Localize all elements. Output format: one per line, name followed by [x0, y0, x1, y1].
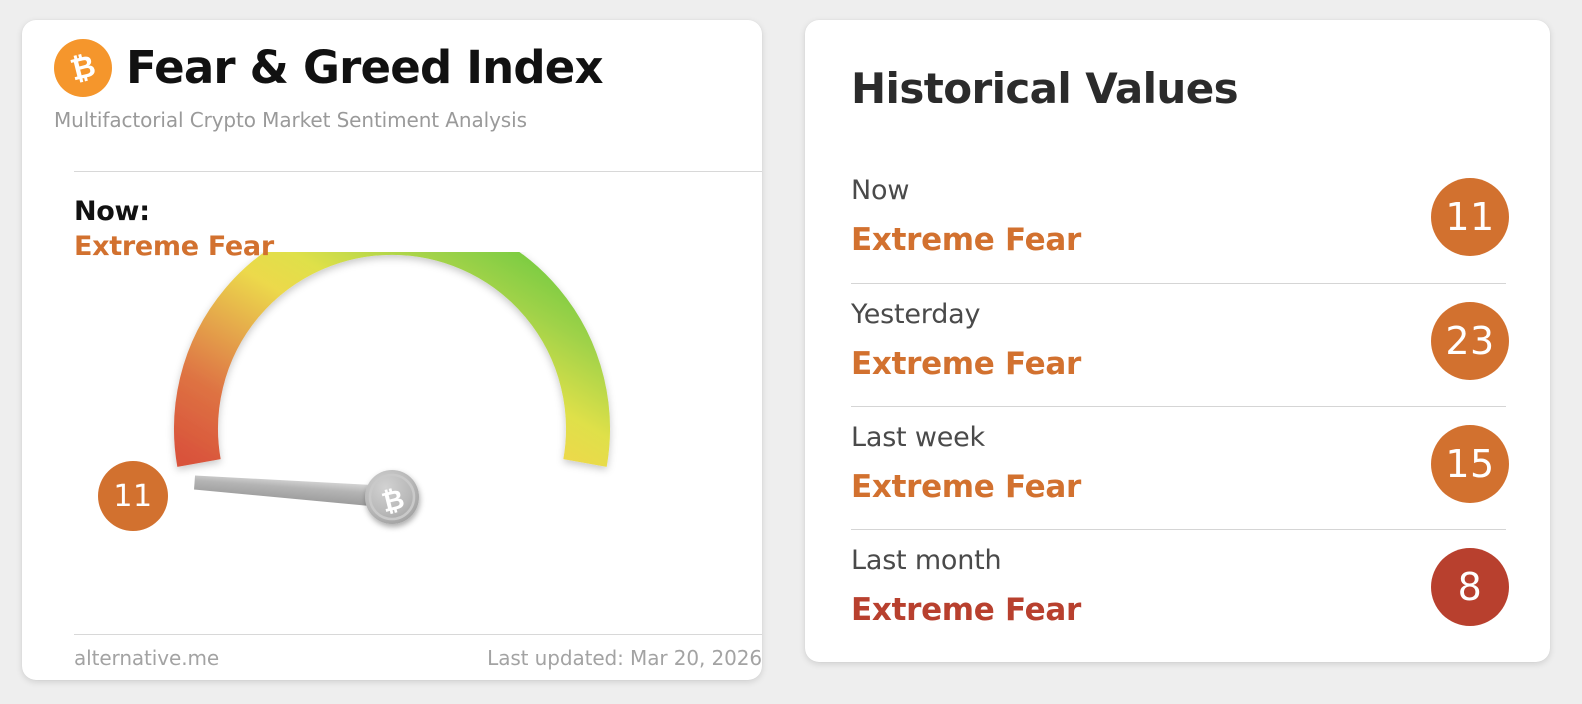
last-updated-label: Last updated: Mar 20, 2026 [487, 646, 762, 670]
historical-row-badge: 8 [1431, 548, 1509, 626]
now-sentiment-value: Extreme Fear [74, 230, 274, 265]
historical-row-label: Last month [851, 545, 1506, 577]
historical-row-sentiment: Extreme Fear [851, 593, 1506, 627]
historical-row-label: Last week [851, 422, 1506, 454]
gauge-arc [196, 252, 588, 463]
svg-text:₿: ₿ [67, 49, 99, 88]
gauge-card-header: ₿ Fear & Greed Index Multifactorial Cryp… [54, 39, 740, 132]
page-title: Fear & Greed Index [126, 44, 603, 91]
historical-row: NowExtreme Fear11 [851, 160, 1506, 283]
historical-values-title: Historical Values [851, 64, 1238, 113]
now-block: Now: Extreme Fear [74, 195, 274, 264]
historical-row-sentiment: Extreme Fear [851, 347, 1506, 381]
historical-values-card: Historical Values NowExtreme Fear11Yeste… [805, 20, 1550, 662]
historical-row-sentiment: Extreme Fear [851, 223, 1506, 257]
historical-row: YesterdayExtreme Fear23 [851, 283, 1506, 406]
historical-row-sentiment: Extreme Fear [851, 470, 1506, 504]
footer-divider [74, 634, 762, 635]
historical-row-label: Now [851, 175, 1506, 207]
source-label[interactable]: alternative.me [74, 646, 219, 670]
card-subtitle: Multifactorial Crypto Market Sentiment A… [54, 108, 740, 132]
gauge-card-footer: alternative.me Last updated: Mar 20, 202… [74, 646, 762, 670]
historical-row: Last monthExtreme Fear8 [851, 529, 1506, 652]
historical-row-badge: 23 [1431, 302, 1509, 380]
gauge-value-badge: 11 [98, 461, 168, 531]
gauge-visualization: ₿ [44, 252, 744, 612]
historical-row-badge: 15 [1431, 425, 1509, 503]
historical-values-list: NowExtreme Fear11YesterdayExtreme Fear23… [851, 160, 1506, 652]
historical-row-badge: 11 [1431, 178, 1509, 256]
now-label: Now: [74, 195, 274, 230]
gauge-needle [194, 472, 393, 508]
historical-row: Last weekExtreme Fear15 [851, 406, 1506, 529]
gauge-needle-hub: ₿ [365, 470, 419, 524]
historical-row-label: Yesterday [851, 299, 1506, 331]
header-divider [74, 171, 762, 172]
title-row: ₿ Fear & Greed Index [54, 39, 740, 97]
bitcoin-icon: ₿ [54, 39, 112, 97]
fear-greed-gauge-card: ₿ Fear & Greed Index Multifactorial Cryp… [22, 20, 762, 680]
